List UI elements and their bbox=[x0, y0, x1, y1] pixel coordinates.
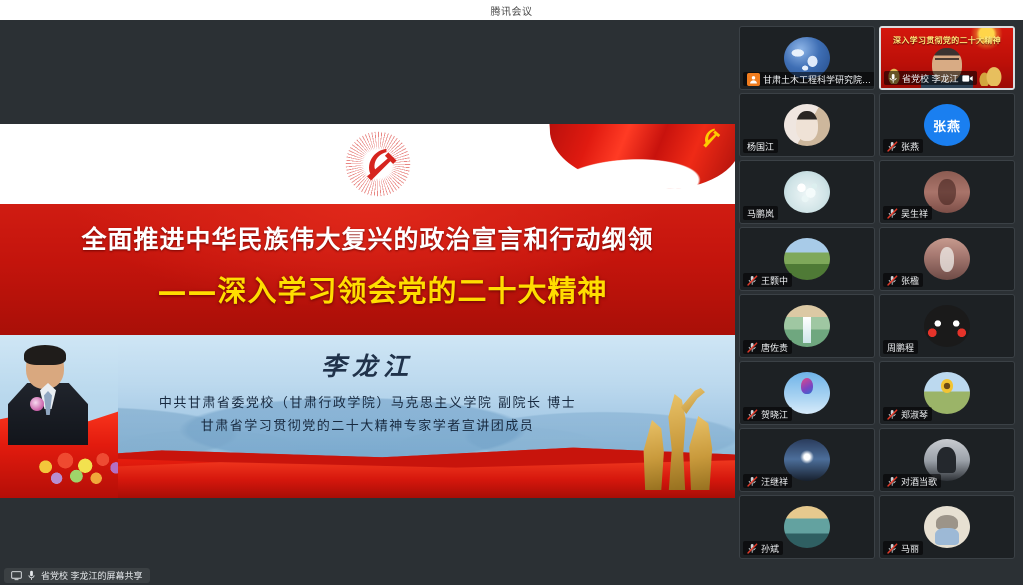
mic-muted-icon bbox=[887, 409, 898, 420]
participant-tile[interactable]: 孙斌 bbox=[739, 495, 875, 559]
slide-title-sub: ——深入学习领会党的二十大精神 bbox=[0, 268, 735, 310]
participant-label: 张楹 bbox=[883, 273, 923, 287]
participant-name: 汪继祥 bbox=[761, 475, 788, 488]
golden-monument-illustration bbox=[631, 386, 721, 498]
participant-label: 杨国江 bbox=[743, 139, 778, 153]
monument-raised-arm bbox=[681, 388, 705, 414]
shared-screen-stage[interactable]: 全面推进中华民族伟大复兴的政治宣言和行动纲领 ——深入学习领会党的二十大精神 李… bbox=[0, 20, 735, 565]
participant-tile[interactable]: 张楹 bbox=[879, 227, 1015, 291]
mic-muted-icon bbox=[747, 476, 758, 487]
participant-tile[interactable]: 郑淑琴 bbox=[879, 361, 1015, 425]
tencent-meeting-window: 腾讯会议 全面推进中华 bbox=[0, 0, 1023, 585]
host-badge-icon bbox=[747, 73, 760, 86]
participant-label: 孙斌 bbox=[743, 541, 783, 555]
participant-row: 甘肃土木工程科学研究院…深入学习贯彻党的二十大精神省党校 李龙江 bbox=[739, 26, 1019, 90]
screen-share-status-text: 省党校 李龙江的屏幕共享 bbox=[41, 569, 143, 582]
slide-header-band bbox=[0, 124, 735, 204]
couple-photo-avatar bbox=[924, 238, 970, 280]
person-with-hat-avatar bbox=[924, 506, 970, 548]
white-flowers-avatar bbox=[784, 171, 830, 213]
participant-row: 王颢中张楹 bbox=[739, 227, 1019, 291]
participant-tile[interactable]: 张燕张燕 bbox=[879, 93, 1015, 157]
video-gold-right bbox=[977, 56, 1011, 86]
participant-label: 王颢中 bbox=[743, 273, 792, 287]
participant-name: 张燕 bbox=[901, 140, 919, 153]
mic-muted-icon bbox=[747, 342, 758, 353]
monument-figure-left bbox=[641, 420, 667, 490]
participant-name: 王颢中 bbox=[761, 274, 788, 287]
mic-muted-icon bbox=[747, 543, 758, 554]
participant-label: 贺晓江 bbox=[743, 407, 792, 421]
participant-tile[interactable]: 汪继祥 bbox=[739, 428, 875, 492]
red-party-flag bbox=[549, 124, 735, 195]
hammer-and-sickle-emblem-icon bbox=[330, 126, 426, 202]
participant-name: 马丽 bbox=[901, 542, 919, 555]
participant-tile[interactable]: 深入学习贯彻党的二十大精神省党校 李龙江 bbox=[879, 26, 1015, 90]
participant-label: 马丽 bbox=[883, 541, 923, 555]
monument-figure-right bbox=[687, 416, 715, 490]
participant-tile[interactable]: 吴生祥 bbox=[879, 160, 1015, 224]
participant-label: 马鹏岚 bbox=[743, 206, 778, 220]
participant-name: 周鹏程 bbox=[887, 341, 914, 354]
participant-tile[interactable]: 杨国江 bbox=[739, 93, 875, 157]
speaker-podium-photo bbox=[0, 335, 118, 498]
mic-muted-icon bbox=[887, 476, 898, 487]
photo-corsage bbox=[30, 397, 44, 411]
screen-share-icon bbox=[11, 570, 22, 581]
participant-row: 马鹏岚吴生祥 bbox=[739, 160, 1019, 224]
participant-tile[interactable]: 周鹏程 bbox=[879, 294, 1015, 358]
participant-label: 省党校 李龙江 bbox=[884, 71, 977, 85]
mic-muted-icon bbox=[887, 141, 898, 152]
mic-active-icon bbox=[888, 73, 899, 84]
participant-name: 贺晓江 bbox=[761, 408, 788, 421]
flag-hammer-sickle-icon bbox=[696, 124, 723, 151]
slide-title-block: 全面推进中华民族伟大复兴的政治宣言和行动纲领 ——深入学习领会党的二十大精神 bbox=[0, 204, 735, 335]
mic-muted-icon bbox=[747, 409, 758, 420]
participant-rail[interactable]: 甘肃土木工程科学研究院…深入学习贯彻党的二十大精神省党校 李龙江杨国江张燕张燕马… bbox=[735, 20, 1023, 565]
participant-label: 对酒当歌 bbox=[883, 474, 941, 488]
lake-sunset-avatar bbox=[784, 506, 830, 548]
microphone-icon bbox=[27, 570, 36, 581]
participant-label: 吴生祥 bbox=[883, 206, 932, 220]
participant-tile[interactable]: 对酒当歌 bbox=[879, 428, 1015, 492]
participant-row: 贺晓江郑淑琴 bbox=[739, 361, 1019, 425]
participant-tile[interactable]: 贺晓江 bbox=[739, 361, 875, 425]
shared-slide: 全面推进中华民族伟大复兴的政治宣言和行动纲领 ——深入学习领会党的二十大精神 李… bbox=[0, 124, 735, 498]
portrait-illustration-avatar bbox=[784, 104, 830, 146]
participant-name: 对酒当歌 bbox=[901, 475, 937, 488]
participant-row: 汪继祥对酒当歌 bbox=[739, 428, 1019, 492]
video-person-glasses bbox=[935, 58, 959, 66]
participant-tile[interactable]: 唐佐贵 bbox=[739, 294, 875, 358]
window-title: 腾讯会议 bbox=[491, 3, 533, 18]
slide-title-main: 全面推进中华民族伟大复兴的政治宣言和行动纲领 bbox=[0, 220, 735, 256]
participant-tile[interactable]: 马鹏岚 bbox=[739, 160, 875, 224]
participant-label: 唐佐贵 bbox=[743, 340, 792, 354]
mic-muted-icon bbox=[747, 275, 758, 286]
participant-name: 郑淑琴 bbox=[901, 408, 928, 421]
participant-name: 张楹 bbox=[901, 274, 919, 287]
participant-name: 唐佐贵 bbox=[761, 341, 788, 354]
participant-row: 唐佐贵周鹏程 bbox=[739, 294, 1019, 358]
participant-label: 周鹏程 bbox=[883, 340, 918, 354]
camera-icon bbox=[962, 74, 973, 83]
hammer-sickle-glyph bbox=[356, 142, 400, 186]
participant-label: 郑淑琴 bbox=[883, 407, 932, 421]
participant-label: 张燕 bbox=[883, 139, 923, 153]
photo-flower-arrangement bbox=[28, 446, 118, 498]
participant-tile[interactable]: 马丽 bbox=[879, 495, 1015, 559]
mic-muted-icon bbox=[887, 275, 898, 286]
participant-row: 孙斌马丽 bbox=[739, 495, 1019, 559]
video-banner-text: 深入学习贯彻党的二十大精神 bbox=[881, 35, 1013, 46]
initials-avatar: 张燕 bbox=[924, 104, 970, 146]
participant-name: 省党校 李龙江 bbox=[902, 72, 959, 85]
bottom-status-bar: 省党校 李龙江的屏幕共享 bbox=[0, 565, 1023, 585]
participant-name: 吴生祥 bbox=[901, 207, 928, 220]
screen-share-status: 省党校 李龙江的屏幕共享 bbox=[4, 568, 150, 583]
participant-row: 杨国江张燕张燕 bbox=[739, 93, 1019, 157]
participant-name: 甘肃土木工程科学研究院… bbox=[763, 73, 871, 86]
mic-muted-icon bbox=[887, 543, 898, 554]
participant-name: 杨国江 bbox=[747, 140, 774, 153]
participant-tile[interactable]: 王颢中 bbox=[739, 227, 875, 291]
participant-label: 汪继祥 bbox=[743, 474, 792, 488]
participant-name: 孙斌 bbox=[761, 542, 779, 555]
mic-muted-icon bbox=[887, 208, 898, 219]
participant-tile[interactable]: 甘肃土木工程科学研究院… bbox=[739, 26, 875, 90]
window-title-bar: 腾讯会议 bbox=[0, 0, 1023, 21]
photo-hair bbox=[24, 345, 66, 365]
participant-name: 马鹏岚 bbox=[747, 207, 774, 220]
kumamon-bear-avatar bbox=[924, 305, 970, 347]
participant-label: 甘肃土木工程科学研究院… bbox=[743, 72, 875, 86]
